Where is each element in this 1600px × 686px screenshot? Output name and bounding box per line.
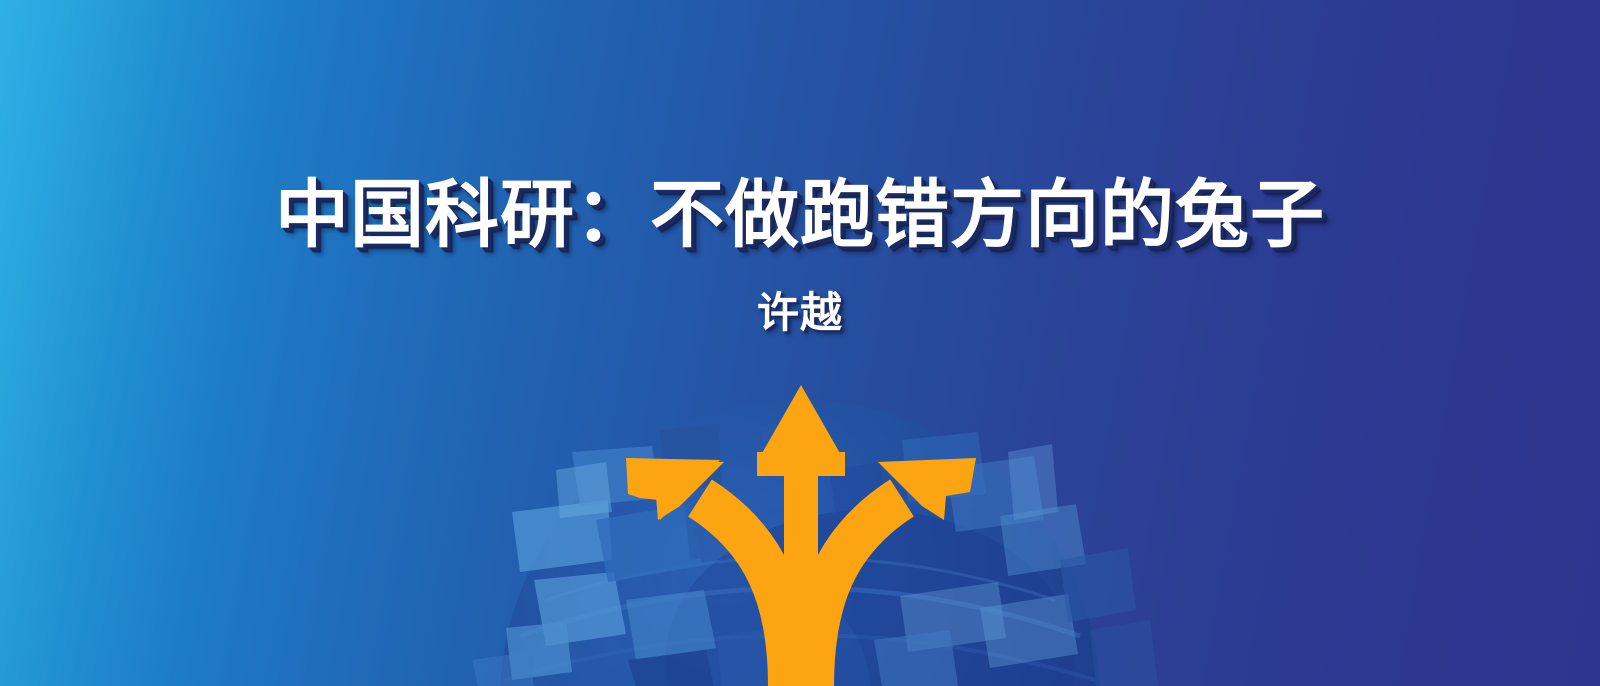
shattered-globe [0, 0, 1600, 686]
three-way-fork-arrow-icon [0, 0, 1600, 686]
presentation-slide: 中国科研：不做跑错方向的兔子 许越 [0, 0, 1600, 686]
page-title: 中国科研：不做跑错方向的兔子 [0, 178, 1600, 252]
author-subtitle: 许越 [0, 292, 1600, 334]
